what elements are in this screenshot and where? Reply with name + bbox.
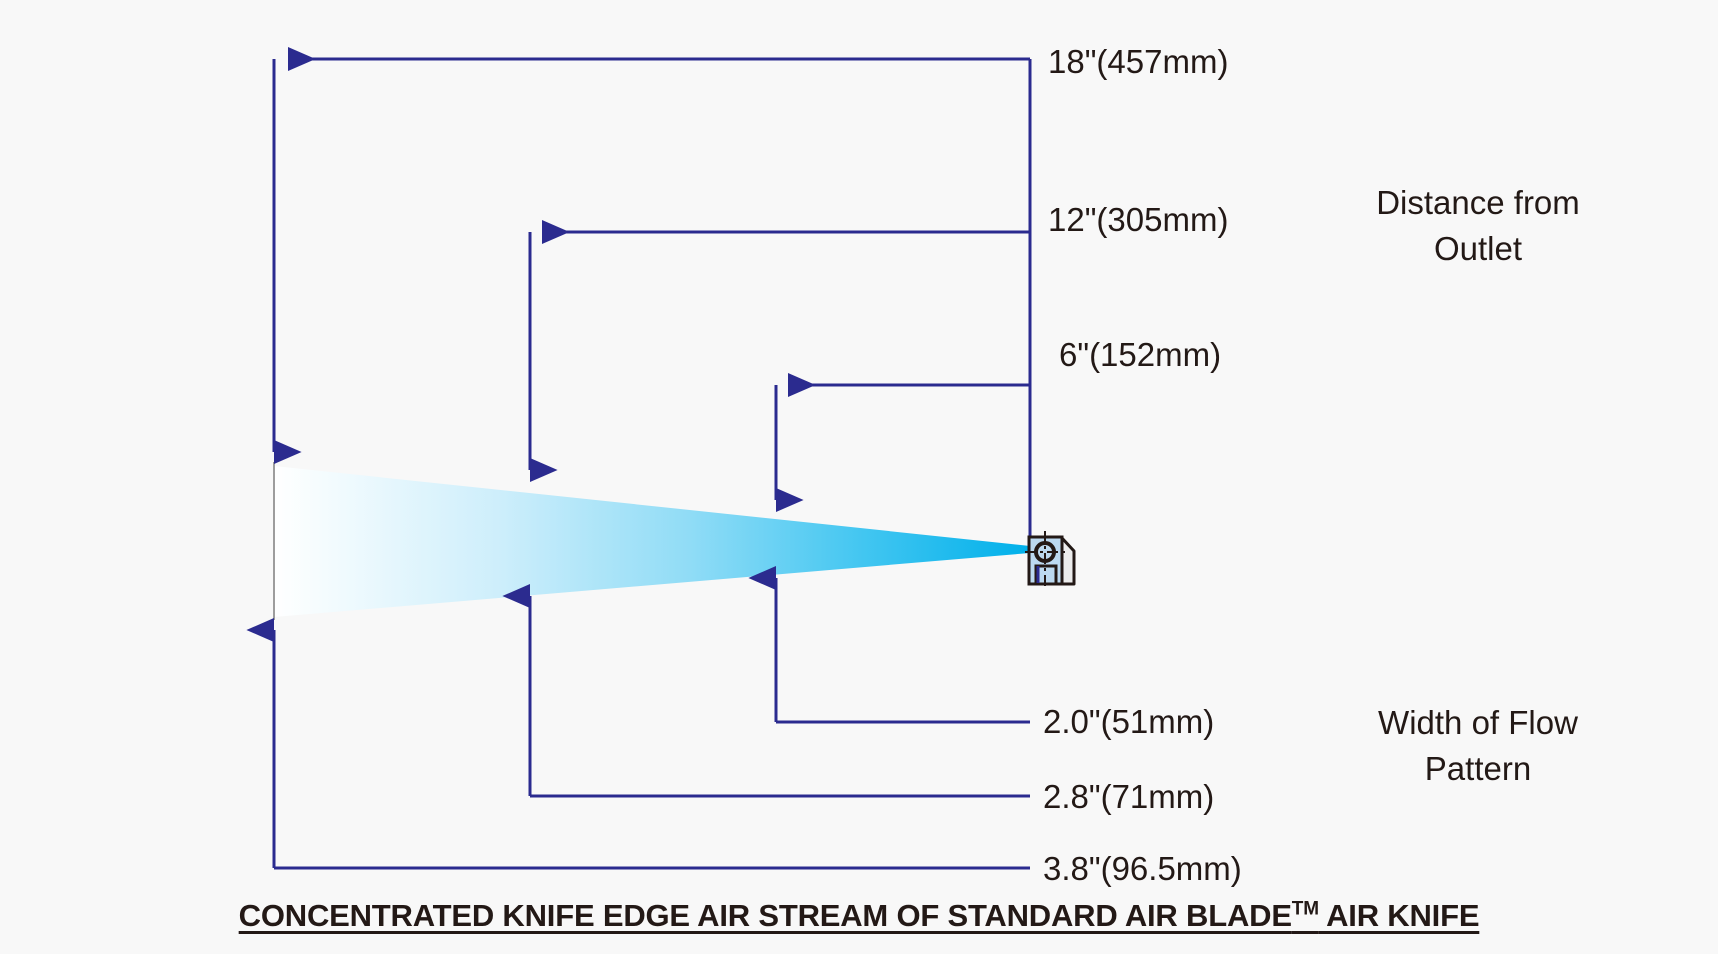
- dimension-3-8-inch: [274, 630, 1030, 868]
- label-12-inch-distance: 12"(305mm): [1048, 203, 1228, 236]
- caption-suffix: AIR KNIFE: [1319, 898, 1479, 933]
- label-18-inch-distance: 18"(457mm): [1048, 45, 1228, 78]
- label-2-8-inch-width: 2.8"(71mm): [1043, 780, 1214, 813]
- dimension-2-0-inch: [776, 578, 1030, 722]
- caption-main: CONCENTRATED KNIFE EDGE AIR STREAM OF ST…: [239, 898, 1292, 933]
- label-3-8-inch-width: 3.8"(96.5mm): [1043, 852, 1242, 885]
- dimension-18-inch: [274, 59, 1030, 452]
- dimension-2-8-inch: [530, 596, 1030, 796]
- dimension-6-inch: [776, 385, 1030, 500]
- label-distance-from-outlet: Distance from Outlet: [1328, 180, 1628, 271]
- label-2-0-inch-width: 2.0"(51mm): [1043, 705, 1214, 738]
- label-6-inch-distance: 6"(152mm): [1059, 338, 1221, 371]
- diagram-canvas: 18"(457mm) 12"(305mm) 6"(152mm) 2.0"(51m…: [0, 0, 1718, 954]
- air-stream-diagram: [0, 0, 1718, 954]
- air-stream-wedge: [274, 462, 1030, 620]
- air-knife-nozzle: [1025, 531, 1074, 590]
- caption-trademark: TM: [1292, 899, 1319, 920]
- dimension-12-inch: [530, 232, 1030, 470]
- diagram-caption: CONCENTRATED KNIFE EDGE AIR STREAM OF ST…: [0, 898, 1718, 934]
- label-width-of-flow-pattern: Width of Flow Pattern: [1328, 700, 1628, 791]
